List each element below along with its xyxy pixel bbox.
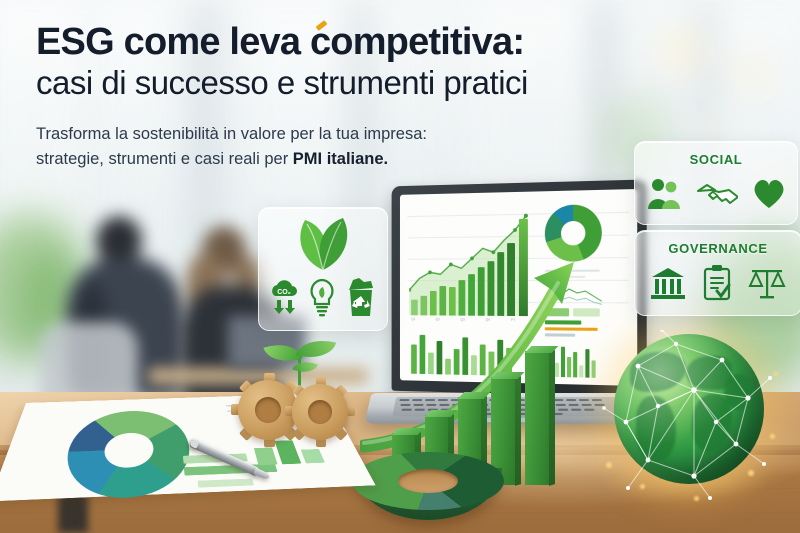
green-network-globe-group	[598, 330, 782, 510]
seedling-leaf-right	[296, 334, 336, 364]
environmental-icon-row: CO₂	[259, 276, 387, 320]
bar-5	[525, 351, 549, 485]
clipboard-check-icon	[702, 265, 732, 301]
subtitle-block: Trasforma la sostenibilità in valore per…	[36, 122, 696, 172]
wooden-gear-right	[290, 382, 350, 442]
globe-network-lines	[598, 330, 782, 510]
card-governance-title: GOVERNANCE	[635, 241, 800, 256]
hero-banner: Q1 Q2 Q3 Q4 FY	[0, 0, 800, 533]
card-environmental[interactable]: CO₂	[258, 207, 388, 331]
co2-reduction-icon: CO₂	[268, 278, 300, 318]
svg-text:CO₂: CO₂	[277, 289, 291, 296]
headline-line-1: ESG come leva competitiva:	[36, 22, 696, 62]
handshake-icon	[696, 179, 738, 209]
desk-3d-donut-chart	[352, 452, 504, 524]
social-icon-row	[635, 174, 797, 214]
card-governance[interactable]: GOVERNANCE	[634, 230, 800, 316]
headline-block: ESG come leva competitiva: casi di succe…	[36, 22, 696, 171]
subtitle-line-2: strategie, strumenti e casi reali per PM…	[36, 147, 696, 172]
heart-icon	[752, 178, 786, 210]
people-group-icon	[646, 177, 682, 211]
lightbulb-leaf-icon	[307, 278, 337, 318]
balance-scales-icon	[748, 266, 786, 300]
subtitle-line-2-bold: PMI italiane.	[293, 150, 388, 168]
subtitle-line-2-prefix: strategie, strumenti e casi reali per	[36, 150, 293, 168]
leaves-icon	[285, 216, 361, 272]
subtitle-line-1: Trasforma la sostenibilità in valore per…	[36, 122, 696, 147]
wooden-gears-group	[228, 334, 358, 444]
headline-line-2: casi di successo e strumenti pratici	[36, 64, 696, 102]
recycle-bin-icon	[344, 278, 378, 318]
governance-icon-row	[635, 263, 800, 303]
bank-building-icon	[650, 266, 686, 300]
